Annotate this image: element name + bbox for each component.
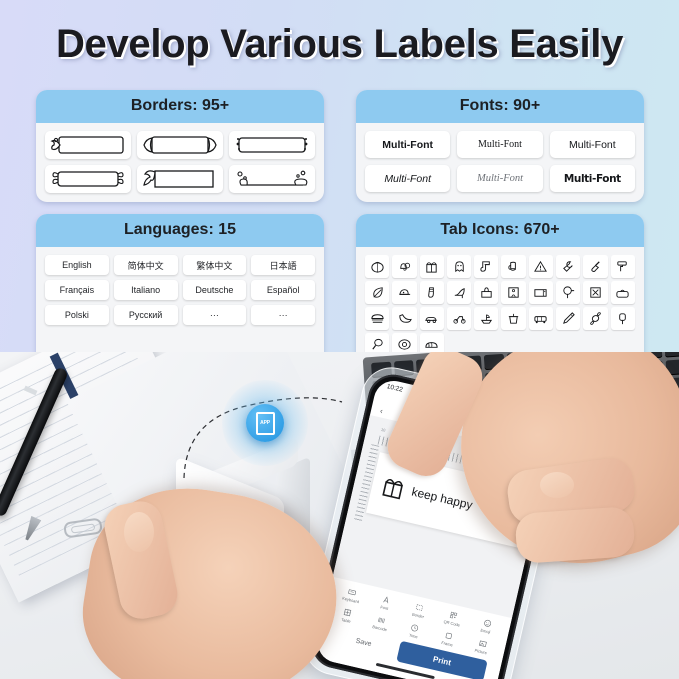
fingernail — [540, 472, 574, 498]
card-languages: Languages: 15 English 简体中文 繁体中文 日本語 Fran… — [36, 214, 324, 365]
tool-label: Barcode — [372, 624, 388, 632]
high-heel-icon[interactable] — [447, 281, 471, 304]
leaf-icon[interactable] — [365, 281, 389, 304]
candy-icon[interactable] — [583, 307, 607, 330]
language-japanese[interactable]: 日本語 — [251, 255, 315, 275]
finger — [514, 506, 635, 564]
paint-roller-icon[interactable] — [611, 255, 635, 278]
card-fonts: Fonts: 90+ Multi-Font Multi-Font Multi-F… — [356, 90, 644, 202]
border-candy-left[interactable] — [45, 131, 131, 159]
gift-box-icon[interactable] — [378, 472, 409, 503]
page-title: Develop Various Labels Easily — [0, 22, 679, 67]
font-sample-regular-sans[interactable]: Multi-Font — [550, 131, 635, 158]
tool-label: QR Code — [443, 619, 460, 628]
tool-label: Keyboard — [342, 596, 360, 605]
font-sample-italic-serif[interactable]: Multi-Font — [457, 165, 542, 192]
font-sample-bold-slab[interactable]: Multi-Font — [550, 165, 635, 192]
car-icon[interactable] — [420, 307, 444, 330]
handbag-icon[interactable] — [474, 281, 498, 304]
clock-icon — [410, 623, 421, 634]
scooter-icon[interactable] — [447, 307, 471, 330]
app-document-icon: APP — [256, 412, 275, 435]
language-more-2[interactable]: ··· — [251, 305, 315, 325]
banana-icon[interactable] — [392, 307, 416, 330]
language-french[interactable]: Français — [45, 280, 109, 300]
tab-icons-grid — [365, 255, 635, 356]
language-russian[interactable]: Русский — [114, 305, 178, 325]
burger-icon[interactable] — [365, 307, 389, 330]
font-sample-bold-sans[interactable]: Multi-Font — [365, 131, 450, 158]
emoji-icon — [482, 618, 493, 629]
ruler-tick: 10 — [380, 427, 386, 436]
border-candy-wrapper[interactable] — [137, 131, 223, 159]
hair-dryer-icon[interactable] — [556, 281, 580, 304]
border-dots[interactable] — [229, 131, 315, 159]
photo-frame-icon[interactable] — [501, 281, 525, 304]
socks-icon[interactable] — [420, 281, 444, 304]
popsicle-icon[interactable] — [611, 307, 635, 330]
language-german[interactable]: Deutsche — [183, 280, 247, 300]
tool-label: Font — [380, 604, 389, 611]
font-sample-italic-sans[interactable]: Multi-Font — [365, 165, 450, 192]
ghost-icon[interactable] — [447, 255, 471, 278]
pumpkin-icon[interactable] — [365, 255, 389, 278]
table-icon — [342, 607, 353, 618]
poster: Develop Various Labels Easily Borders: 9… — [0, 0, 679, 679]
card-fonts-title: Fonts: 90+ — [356, 90, 644, 123]
tool-label: Table — [341, 617, 351, 624]
christmas-stocking-icon[interactable] — [474, 255, 498, 278]
shovel-icon[interactable] — [583, 255, 607, 278]
ship-icon[interactable] — [474, 307, 498, 330]
language-italian[interactable]: Italiano — [114, 280, 178, 300]
language-more-1[interactable]: ··· — [183, 305, 247, 325]
barcode-icon — [376, 615, 387, 626]
tool-label: Emoji — [480, 627, 491, 634]
card-tab-icons-title: Tab Icons: 670+ — [356, 214, 644, 247]
hourglass-icon[interactable] — [583, 281, 607, 304]
border-bird-flourish[interactable] — [137, 165, 223, 193]
card-borders-title: Borders: 95+ — [36, 90, 324, 123]
border-bubbles-cupcake[interactable] — [229, 165, 315, 193]
toaster-icon[interactable] — [611, 281, 635, 304]
wrench-icon[interactable] — [556, 255, 580, 278]
fonts-grid: Multi-Font Multi-Font Multi-Font Multi-F… — [365, 131, 635, 192]
language-english[interactable]: English — [45, 255, 109, 275]
qr-code-icon — [448, 610, 459, 621]
warning-triangle-icon[interactable] — [529, 255, 553, 278]
languages-grid: English 简体中文 繁体中文 日本語 Français Italiano … — [45, 255, 315, 325]
language-polish[interactable]: Polski — [45, 305, 109, 325]
language-traditional-chinese[interactable]: 繁体中文 — [183, 255, 247, 275]
product-photo-scene: e Phomemo keep happy APP 10:22 — [0, 352, 679, 679]
cap-icon[interactable] — [392, 281, 416, 304]
drink-cup-icon[interactable] — [501, 307, 525, 330]
font-sample-serif[interactable]: Multi-Font — [457, 131, 542, 158]
border-bows[interactable] — [45, 165, 131, 193]
card-tab-icons: Tab Icons: 670+ — [356, 214, 644, 365]
mitten-icon[interactable] — [501, 255, 525, 278]
app-badge: APP — [246, 404, 284, 442]
language-spanish[interactable]: Español — [251, 280, 315, 300]
bus-icon[interactable] — [529, 307, 553, 330]
gift-box-icon[interactable] — [420, 255, 444, 278]
microwave-icon[interactable] — [529, 281, 553, 304]
card-borders: Borders: 95+ — [36, 90, 324, 202]
thumbnail — [124, 512, 154, 552]
canvas-text[interactable]: keep happy — [410, 485, 474, 513]
borders-grid — [45, 131, 315, 193]
tool-label: Time — [409, 633, 419, 640]
card-languages-title: Languages: 15 — [36, 214, 324, 247]
language-simplified-chinese[interactable]: 简体中文 — [114, 255, 178, 275]
app-badge-label: APP — [260, 420, 270, 426]
bells-icon[interactable] — [392, 255, 416, 278]
feature-card-grid: Borders: 95+ — [36, 90, 644, 365]
pen-icon[interactable] — [556, 307, 580, 330]
